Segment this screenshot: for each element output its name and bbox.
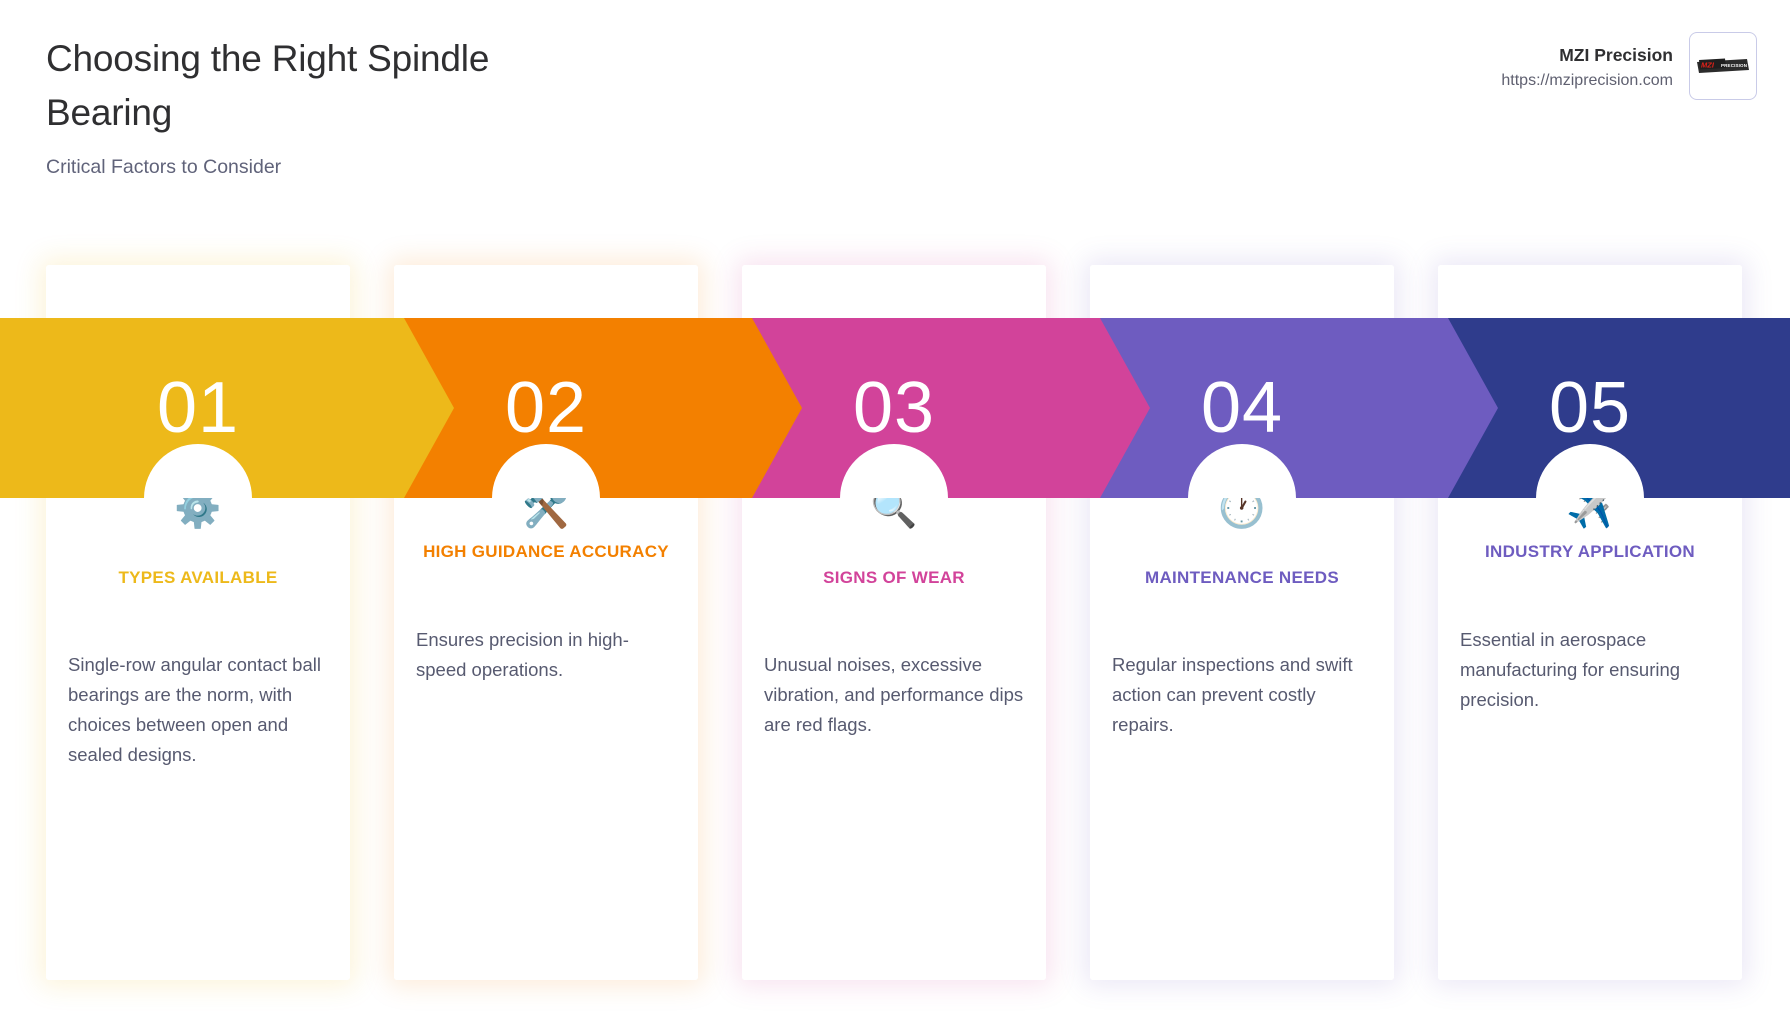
step-card-4-body: Regular inspections and swift action can…: [1112, 650, 1372, 740]
brand-url: https://mziprecision.com: [1501, 69, 1673, 93]
step-card-2-body: Ensures precision in high-speed operatio…: [416, 625, 676, 685]
step-card-2-heading: HIGH GUIDANCE ACCURACY: [416, 537, 676, 567]
page-subtitle: Critical Factors to Consider: [46, 154, 606, 180]
mzi-precision-logo-icon: MZI PRECISION: [1696, 57, 1750, 75]
brand-block: MZI Precision https://mziprecision.com M…: [1501, 32, 1757, 100]
step-card-3-heading: SIGNS OF WEAR: [764, 563, 1024, 593]
step-card-4-heading: MAINTENANCE NEEDS: [1112, 563, 1372, 593]
step-card-1-body: Single-row angular contact ball bearings…: [68, 650, 328, 770]
step-card-5-heading: INDUSTRY APPLICATION: [1460, 537, 1720, 567]
page-title: Choosing the Right Spindle Bearing: [46, 32, 606, 140]
brand-name: MZI Precision: [1501, 43, 1673, 67]
svg-text:PRECISION: PRECISION: [1721, 63, 1747, 68]
title-block: Choosing the Right Spindle Bearing Criti…: [46, 32, 606, 180]
step-card-3-body: Unusual noises, excessive vibration, and…: [764, 650, 1024, 740]
step-card-5-body: Essential in aerospace manufacturing for…: [1460, 625, 1720, 715]
infographic-page: Choosing the Right Spindle Bearing Criti…: [0, 0, 1790, 1024]
page-header: Choosing the Right Spindle Bearing Criti…: [0, 0, 1790, 215]
brand-logo-box: MZI PRECISION: [1689, 32, 1757, 100]
step-card-1-heading: TYPES AVAILABLE: [68, 563, 328, 593]
brand-text: MZI Precision https://mziprecision.com: [1501, 32, 1673, 93]
svg-text:MZI: MZI: [1701, 61, 1715, 70]
